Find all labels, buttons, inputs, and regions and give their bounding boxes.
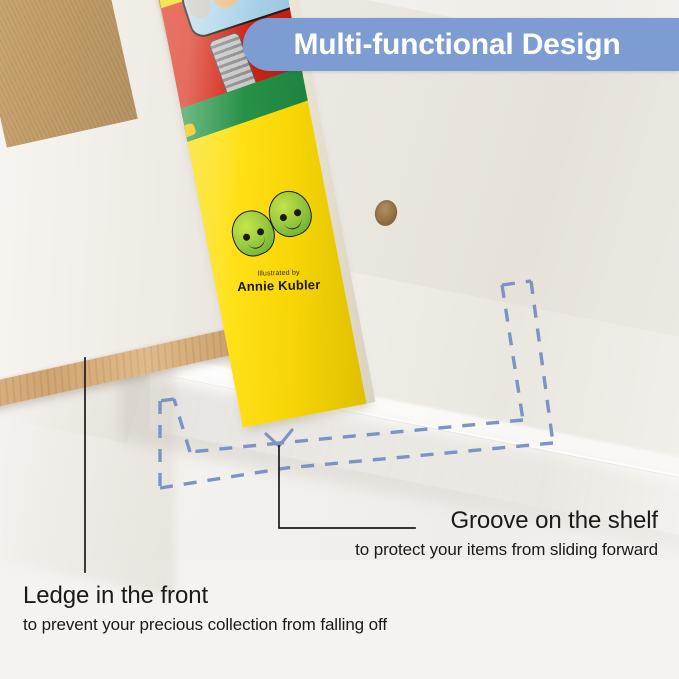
header-banner-title: Multi-functional Design <box>293 28 628 62</box>
callout-ledge-subtext: to prevent your precious collection from… <box>23 615 387 635</box>
callout-ledge-heading: Ledge in the front <box>23 582 387 610</box>
product-feature-image: Illustrated by Annie Kubler <box>0 0 679 679</box>
callout-ledge: Ledge in the front to prevent your preci… <box>23 582 387 635</box>
callout-groove: Groove on the shelf to protect your item… <box>355 507 658 560</box>
callout-groove-heading: Groove on the shelf <box>355 507 658 535</box>
annotation-overlay <box>0 0 679 679</box>
header-banner: Multi-functional Design <box>243 18 679 71</box>
groove-dashed-outline <box>160 281 553 488</box>
callout-groove-subtext: to protect your items from sliding forwa… <box>355 540 658 560</box>
annotation-svg <box>0 0 679 679</box>
